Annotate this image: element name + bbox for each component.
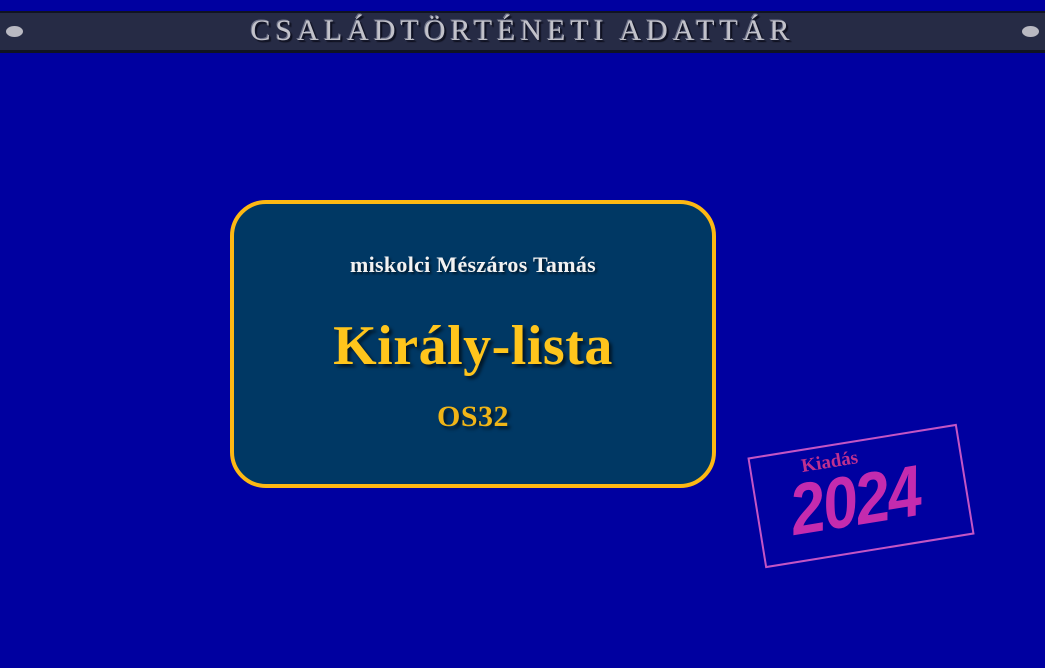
top-banner: CSALÁDTÖRTÉNETI ADATTÁR bbox=[0, 11, 1045, 53]
banner-bar: CSALÁDTÖRTÉNETI ADATTÁR bbox=[0, 11, 1045, 53]
card-author: miskolci Mészáros Tamás bbox=[350, 254, 596, 276]
banner-left-dot-icon bbox=[6, 26, 23, 37]
banner-title: CSALÁDTÖRTÉNETI ADATTÁR bbox=[23, 16, 1022, 48]
edition-stamp: Kiadás 2024 bbox=[747, 424, 974, 568]
card-title: Király-lista bbox=[333, 318, 613, 374]
banner-right-dot-icon bbox=[1022, 26, 1039, 37]
stamp-year: 2024 bbox=[785, 455, 926, 547]
title-card: miskolci Mészáros Tamás Király-lista OS3… bbox=[230, 200, 716, 488]
card-edition-code: OS32 bbox=[437, 402, 509, 432]
